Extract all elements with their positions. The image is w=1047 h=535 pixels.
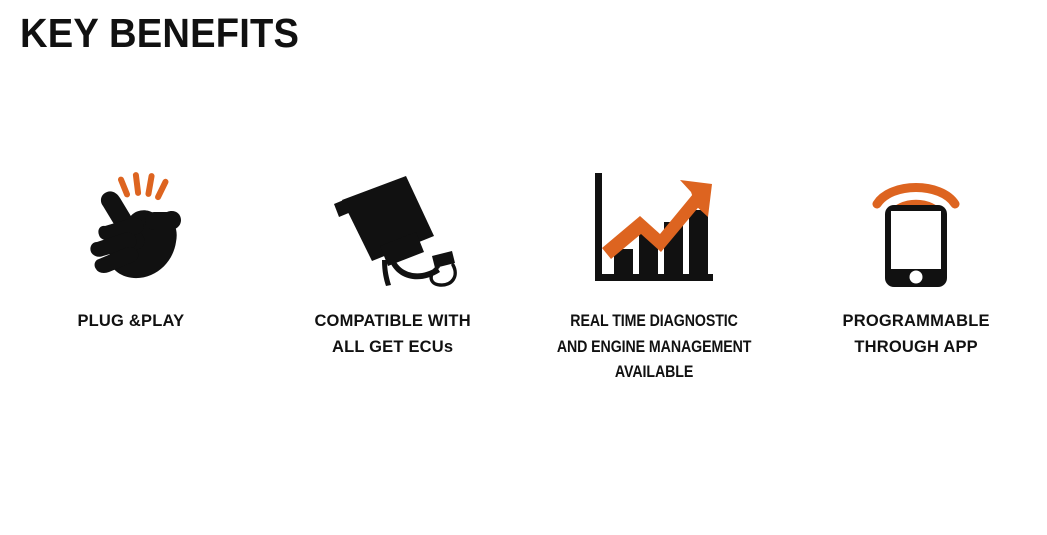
bar-chart-growth-arrow-icon (584, 160, 724, 295)
benefit-label: PLUG &PLAY (77, 309, 184, 335)
benefits-row: PLUG &PLAY (0, 160, 1047, 386)
benefit-item-realtime-diagnostic: REAL TIME DIAGNOSTIC AND ENGINE MANAGEME… (524, 160, 786, 386)
ecu-control-unit-icon (323, 160, 463, 295)
snapping-fingers-icon (61, 160, 201, 295)
smartphone-wireless-signal-icon (846, 160, 986, 295)
benefit-label: REAL TIME DIAGNOSTIC AND ENGINE MANAGEME… (557, 309, 751, 386)
benefit-item-compatible-ecus: COMPATIBLE WITH ALL GET ECUs (262, 160, 524, 360)
page-title: KEY BENEFITS (20, 12, 299, 55)
benefit-label: PROGRAMMABLE THROUGH APP (843, 309, 990, 360)
benefit-item-plug-and-play: PLUG &PLAY (0, 160, 262, 335)
benefit-item-programmable-app: PROGRAMMABLE THROUGH APP (785, 160, 1047, 360)
benefit-label: COMPATIBLE WITH ALL GET ECUs (314, 309, 470, 360)
